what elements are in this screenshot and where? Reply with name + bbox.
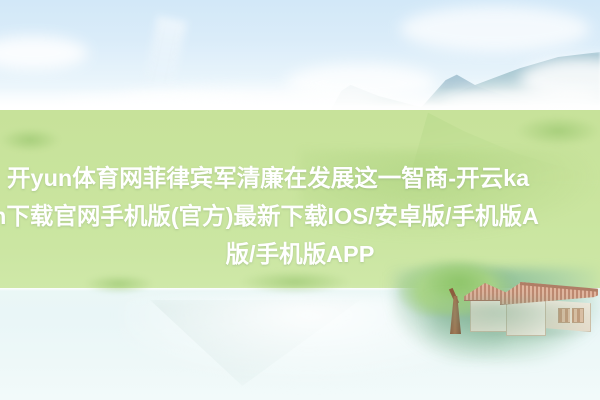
meadow-shading: [300, 150, 600, 240]
grass-tuft-icon: [84, 274, 154, 294]
grass-tuft-icon: [240, 270, 350, 294]
foliage-shadow: [430, 300, 600, 352]
grass-tuft-icon: [0, 128, 60, 152]
scene-container: 开yun体育网菲律宾军清廉在发展这一智商-开云ka n下载官网手机版(官方)最新…: [0, 0, 600, 400]
cloud-icon: [400, 6, 590, 52]
grass-tuft-icon: [516, 116, 600, 146]
